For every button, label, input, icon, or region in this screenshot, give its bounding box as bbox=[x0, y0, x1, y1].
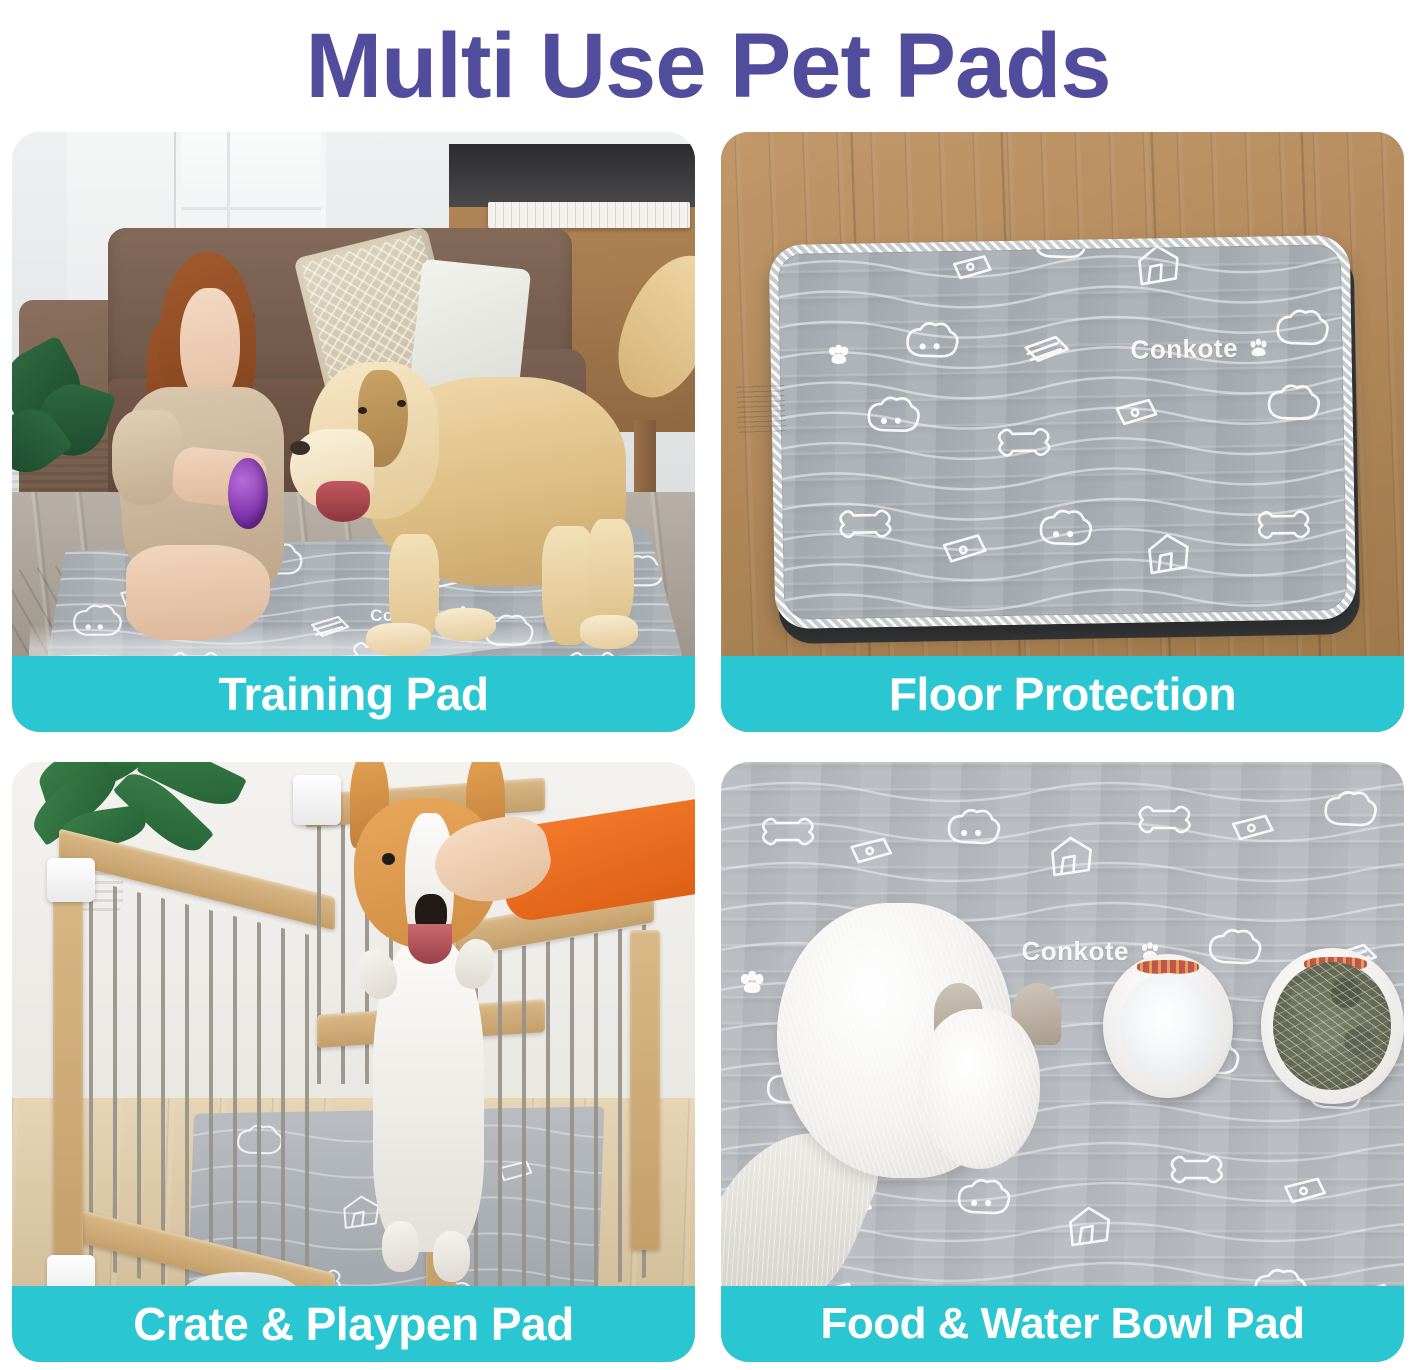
playpen-corner-bracket bbox=[47, 858, 95, 902]
card-caption-crate-playpen-pad: Crate & Playpen Pad bbox=[12, 1286, 695, 1362]
page-title: Multi Use Pet Pads bbox=[0, 0, 1416, 132]
playpen-post-far-right bbox=[630, 930, 660, 1250]
bowl-decal bbox=[1137, 960, 1199, 974]
water-bowl bbox=[1103, 954, 1233, 1098]
scene-food-water-bowl: Conkote Conkote bbox=[721, 762, 1404, 1362]
pad-motifs bbox=[769, 235, 1356, 629]
golden-retriever bbox=[313, 288, 695, 660]
food-plate bbox=[1261, 948, 1404, 1104]
paw-print-icon bbox=[1246, 335, 1272, 361]
scene-training-pad: Conkote bbox=[12, 132, 695, 732]
card-caption-training-pad: Training Pad bbox=[12, 656, 695, 732]
feature-card-training-pad[interactable]: Conkote bbox=[12, 132, 695, 732]
cat-head bbox=[919, 1009, 1040, 1169]
pet-pad: Conkote bbox=[769, 235, 1356, 629]
card-caption-floor-protection: Floor Protection bbox=[721, 656, 1404, 732]
card-caption-food-water-bowl-pad: Food & Water Bowl Pad bbox=[721, 1286, 1404, 1362]
feature-card-crate-playpen-pad[interactable]: Crate & Playpen Pad bbox=[12, 762, 695, 1362]
brand-name: Conkote bbox=[1130, 333, 1238, 366]
scene-floor-protection: Conkote bbox=[721, 132, 1404, 732]
feature-card-grid: Conkote bbox=[0, 132, 1416, 1370]
feature-card-food-water-bowl-pad[interactable]: Conkote Conkote bbox=[721, 762, 1404, 1362]
feature-card-floor-protection[interactable]: Conkote Floor Protection bbox=[721, 132, 1404, 732]
playpen-post-front-left bbox=[53, 863, 83, 1283]
human-hand-petting bbox=[435, 786, 695, 942]
scene-crate-playpen bbox=[12, 762, 695, 1362]
care-label-tag bbox=[736, 383, 785, 433]
pad-brand-logo: Conkote bbox=[1130, 332, 1272, 365]
white-cat bbox=[735, 894, 1090, 1338]
spiky-dog-toy bbox=[228, 458, 267, 529]
